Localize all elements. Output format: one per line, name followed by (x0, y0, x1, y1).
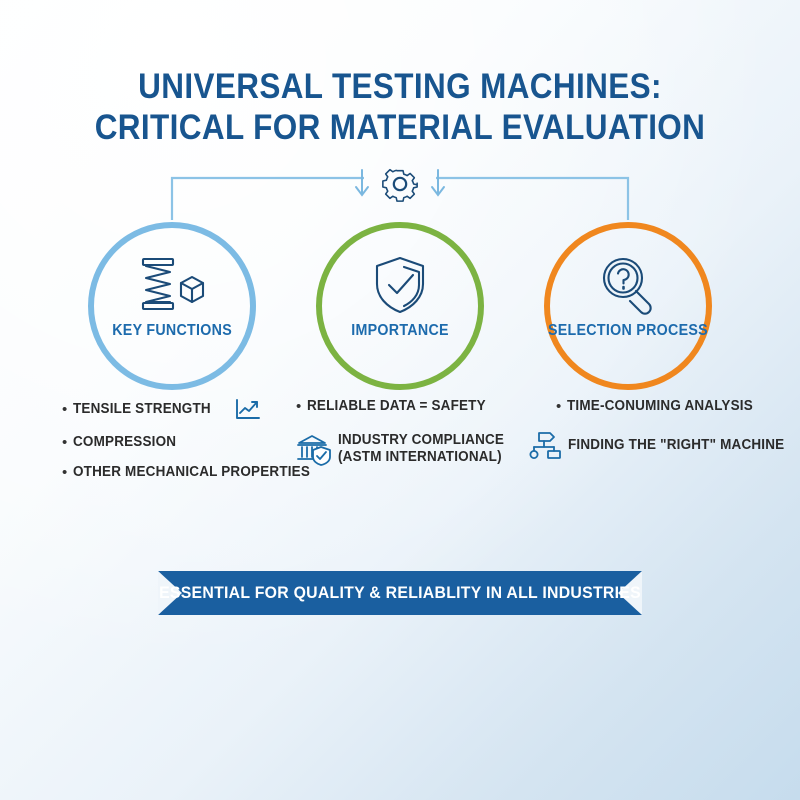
list-item-label: RELIABLE DATA = SAFETY (307, 398, 486, 414)
bullet-dot-icon: • (62, 435, 73, 450)
bullet-dot-icon: • (296, 399, 307, 414)
list-item-label: OTHER MECHANICAL PROPERTIES (73, 464, 310, 480)
ribbon-banner: ESSENTIAL FOR QUALITY & RELIABLITY IN AL… (158, 571, 642, 615)
list-item: • COMPRESSION (62, 434, 292, 450)
pillar-importance[interactable]: IMPORTANCE (316, 222, 484, 390)
flowchart-icon (528, 430, 562, 460)
importance-list: • RELIABLE DATA = SAFETY (296, 398, 516, 476)
pillar-label: IMPORTANCE (351, 322, 449, 340)
key-functions-list: • TENSILE STRENGTH • COMPRESSION (62, 398, 292, 494)
bullet-dot-icon: • (62, 402, 73, 417)
arrow-down-icon (432, 170, 444, 195)
pillar-label: KEY FUNCTIONS (112, 322, 232, 340)
title-line-2: CRITICAL FOR MATERIAL EVALUATION (40, 107, 760, 148)
list-item-label: TIME-CONUMING ANALYSIS (567, 398, 753, 414)
detail-columns: • TENSILE STRENGTH • COMPRESSION (0, 398, 800, 508)
pillar-key-functions[interactable]: KEY FUNCTIONS (88, 222, 256, 390)
list-item: • OTHER MECHANICAL PROPERTIES (62, 464, 292, 480)
list-item-line-2: (ASTM INTERNATIONAL) (338, 449, 502, 465)
list-item-label: COMPRESSION (73, 434, 176, 450)
bullet-dot-icon: • (62, 465, 73, 480)
bullet-dot-icon: • (556, 399, 567, 414)
connector-bracket (150, 162, 650, 222)
spring-compression-cube-icon (135, 254, 209, 316)
gear-icon (383, 170, 417, 201)
line-chart-icon (235, 398, 261, 420)
institution-shield-icon (296, 432, 332, 466)
list-item: • RELIABLE DATA = SAFETY (296, 398, 516, 414)
list-item: FINDING THE "RIGHT" MACHINE (528, 430, 768, 460)
page-title: UNIVERSAL TESTING MACHINES: CRITICAL FOR… (0, 66, 800, 148)
arrow-down-icon (356, 170, 368, 195)
list-item-label: TENSILE STRENGTH (73, 401, 211, 417)
list-item-line-1: INDUSTRY COMPLIANCE (338, 432, 504, 448)
infographic-poster: UNIVERSAL TESTING MACHINES: CRITICAL FOR… (0, 0, 800, 800)
list-item-label: INDUSTRY COMPLIANCE (ASTM INTERNATIONAL) (338, 432, 504, 466)
list-item-label: FINDING THE "RIGHT" MACHINE (568, 437, 784, 454)
pillar-label: SELECTION PROCESS (548, 322, 708, 340)
ribbon-shape (158, 571, 642, 615)
pillars-row: KEY FUNCTIONS IMPORTANCE (0, 222, 800, 392)
connector-svg (150, 162, 650, 222)
selection-process-list: • TIME-CONUMING ANALYSIS (528, 398, 768, 470)
list-item: INDUSTRY COMPLIANCE (ASTM INTERNATIONAL) (296, 432, 516, 466)
list-item: • TIME-CONUMING ANALYSIS (556, 398, 768, 414)
title-line-1: UNIVERSAL TESTING MACHINES: (40, 66, 760, 107)
bracket-left-icon (172, 178, 364, 220)
bracket-right-icon (436, 178, 628, 220)
pillar-selection-process[interactable]: SELECTION PROCESS (544, 222, 712, 390)
magnifier-question-icon (597, 254, 659, 316)
list-item: • TENSILE STRENGTH (62, 398, 292, 420)
shield-check-icon (369, 254, 431, 316)
